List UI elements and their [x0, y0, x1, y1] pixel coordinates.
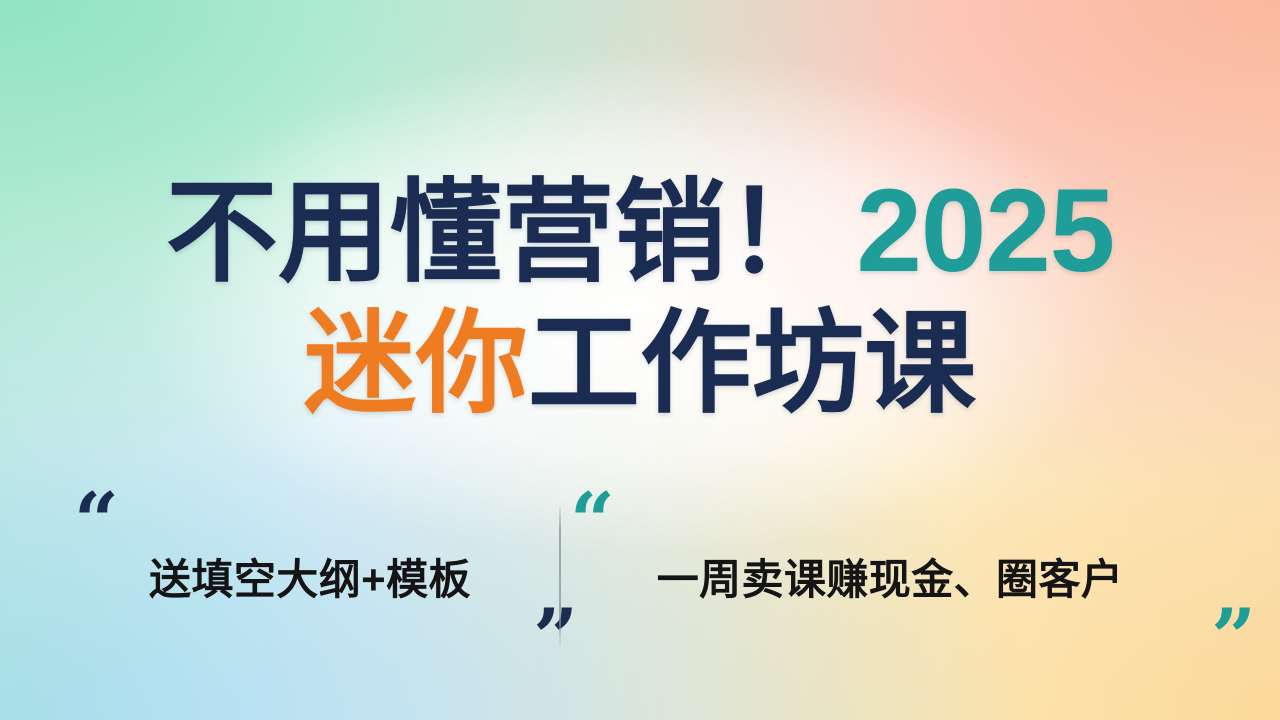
benefit-left-text: 送填空大纲+模板 — [149, 546, 471, 607]
benefit-item-right: “ 一周卖课赚现金、圈客户 ” — [560, 491, 1220, 661]
headline-line1-navy-text: 不用懂营销！ — [166, 170, 838, 295]
headline-line-1: 不用懂营销！2025 — [0, 172, 1280, 290]
headline-line2-orange-text: 迷你 — [304, 301, 528, 426]
headline-year: 2025 — [856, 165, 1114, 297]
benefit-item-left: “ 送填空大纲+模板 ” — [60, 491, 560, 661]
headline-line-2: 迷你工作坊课 — [0, 308, 1280, 420]
benefits-row: “ 送填空大纲+模板 ” “ 一周卖课赚现金、圈客户 ” — [0, 486, 1280, 666]
benefits-divider — [559, 505, 561, 647]
headline-block: 不用懂营销！2025 迷你工作坊课 — [0, 172, 1280, 420]
promo-poster: 不用懂营销！2025 迷你工作坊课 “ 送填空大纲+模板 ” “ 一周卖课赚现金… — [0, 0, 1280, 720]
headline-line2-navy-text: 工作坊课 — [528, 301, 976, 426]
quote-open-icon: “ — [570, 483, 615, 561]
quote-close-icon: ” — [1211, 599, 1256, 677]
quote-open-icon: “ — [74, 483, 119, 561]
benefit-right-text: 一周卖课赚现金、圈客户 — [657, 546, 1124, 607]
